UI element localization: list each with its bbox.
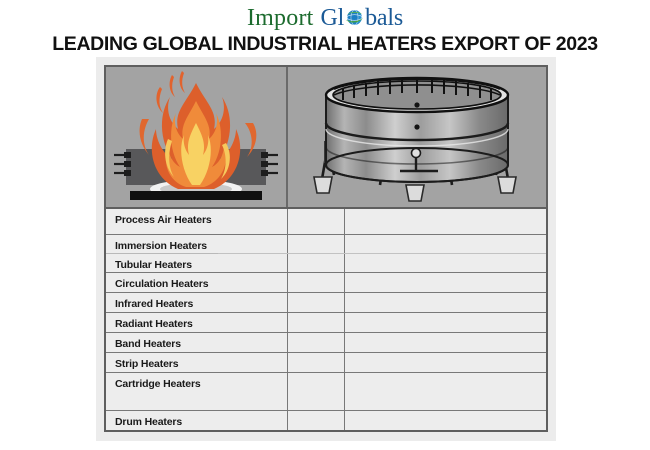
row-label: Infrared Heaters — [106, 293, 288, 312]
logo-text-import: Import — [247, 6, 314, 30]
row-label: Radiant Heaters — [106, 313, 288, 332]
row-cell-col3[interactable] — [345, 209, 546, 234]
row-cell-col2[interactable] — [288, 254, 345, 272]
row-cell-col2[interactable] — [288, 353, 345, 372]
row-cell-col2[interactable] — [288, 373, 345, 410]
table-row[interactable]: Band Heaters — [106, 333, 546, 353]
row-cell-col2[interactable] — [288, 293, 345, 312]
row-cell-col2[interactable] — [288, 209, 345, 234]
row-cell-col3[interactable] — [345, 235, 546, 253]
import-globals-logo[interactable]: Import Gl bals — [247, 6, 403, 30]
table-row[interactable]: Infrared Heaters — [106, 293, 546, 313]
row-cell-col2[interactable] — [288, 273, 345, 292]
row-label: Circulation Heaters — [106, 273, 288, 292]
row-cell-col3[interactable] — [345, 333, 546, 352]
table-row[interactable]: Immersion Heaters — [106, 235, 546, 254]
row-cell-col2[interactable] — [288, 235, 345, 253]
table-row[interactable]: Tubular Heaters — [106, 254, 546, 273]
industrial-tank-heater-image — [288, 67, 546, 207]
table-row[interactable]: Drum Heaters — [106, 411, 546, 430]
row-cell-col3[interactable] — [345, 313, 546, 332]
row-label: Strip Heaters — [106, 353, 288, 372]
row-cell-col2[interactable] — [288, 333, 345, 352]
globe-icon — [345, 8, 364, 27]
row-label: Band Heaters — [106, 333, 288, 352]
row-cell-col3[interactable] — [345, 254, 546, 272]
table-row[interactable]: Circulation Heaters — [106, 273, 546, 293]
heater-types-table: Process Air Heaters Immersion Heaters Tu… — [104, 65, 548, 432]
row-cell-col3[interactable] — [345, 293, 546, 312]
page-title: LEADING GLOBAL INDUSTRIAL HEATERS EXPORT… — [0, 33, 650, 56]
row-label: Drum Heaters — [106, 411, 288, 430]
row-cell-col3[interactable] — [345, 353, 546, 372]
table-row[interactable]: Cartridge Heaters — [106, 373, 546, 411]
table-row[interactable]: Process Air Heaters — [106, 209, 546, 235]
logo-text-gl: Gl — [321, 6, 345, 30]
industrial-burner-flame-image — [106, 67, 288, 207]
row-label: Tubular Heaters — [106, 254, 288, 272]
row-cell-col3[interactable] — [345, 273, 546, 292]
logo-text-globals: Gl bals — [321, 6, 403, 30]
table-row[interactable]: Radiant Heaters — [106, 313, 546, 333]
row-cell-col2[interactable] — [288, 411, 345, 430]
row-label: Immersion Heaters — [106, 235, 288, 253]
row-label: Process Air Heaters — [106, 209, 288, 234]
row-cell-col3[interactable] — [345, 373, 546, 410]
table-image-row — [106, 67, 546, 209]
logo-bar: Import Gl bals — [0, 2, 650, 34]
row-label: Cartridge Heaters — [106, 373, 288, 410]
logo-text-bals: bals — [365, 6, 403, 30]
row-cell-col2[interactable] — [288, 313, 345, 332]
row-cell-col3[interactable] — [345, 411, 546, 430]
table-row[interactable]: Strip Heaters — [106, 353, 546, 373]
